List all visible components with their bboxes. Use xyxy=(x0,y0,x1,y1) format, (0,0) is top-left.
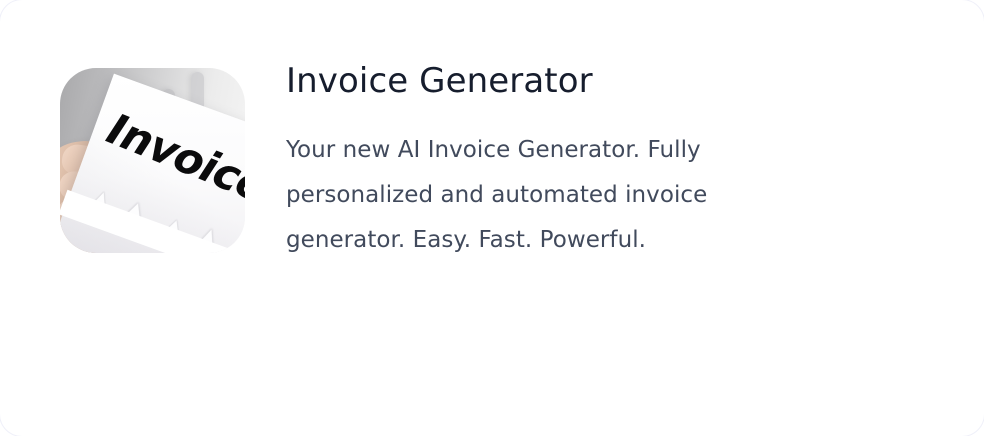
page-title: Invoice Generator xyxy=(286,58,816,104)
app-description: Your new AI Invoice Generator. Fully per… xyxy=(286,104,816,263)
app-thumbnail: Invoice xyxy=(60,68,245,253)
app-info-card: Invoice Invoice Generator Your new AI In… xyxy=(0,0,984,436)
app-text-block: Invoice Generator Your new AI Invoice Ge… xyxy=(286,58,816,263)
